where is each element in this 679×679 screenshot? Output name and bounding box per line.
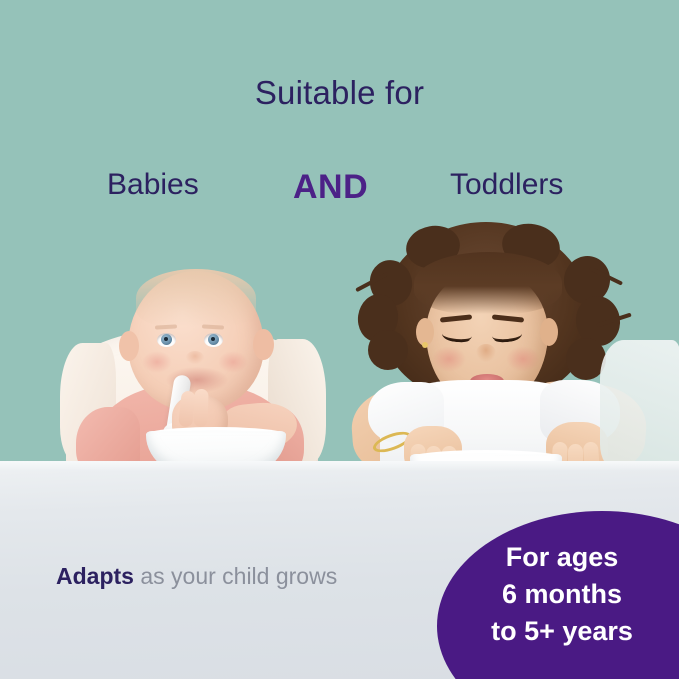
baby-nose bbox=[186, 351, 204, 364]
adapts-caption: Adapts as your child grows bbox=[56, 563, 337, 590]
adapts-caption-light: as your child grows bbox=[134, 563, 337, 589]
age-badge-line-3: to 5+ years bbox=[437, 613, 679, 650]
age-badge-line-2: 6 months bbox=[437, 576, 679, 613]
baby-right-cheek bbox=[218, 351, 248, 373]
baby-finger bbox=[193, 389, 208, 427]
baby-right-eye bbox=[204, 333, 223, 347]
product-feature-image: Suitable for Babies AND Toddlers Adapts … bbox=[0, 0, 679, 679]
audience-row: Babies AND Toddlers bbox=[0, 168, 679, 212]
baby-left-cheek bbox=[142, 351, 172, 373]
toddler-hair-curl bbox=[368, 330, 408, 370]
toddler-earring bbox=[422, 342, 428, 348]
adapts-caption-strong: Adapts bbox=[56, 563, 134, 589]
baby-left-ear bbox=[119, 331, 139, 361]
baby-right-ear bbox=[253, 329, 274, 360]
baby-hair bbox=[136, 269, 256, 327]
audience-label-babies: Babies bbox=[107, 168, 199, 202]
toddler-left-cheek bbox=[432, 346, 466, 372]
background-chair-right bbox=[600, 340, 679, 470]
page-title: Suitable for bbox=[0, 74, 679, 112]
age-badge-line-1: For ages bbox=[437, 539, 679, 576]
toddler-nose bbox=[476, 344, 496, 362]
audience-connector: AND bbox=[293, 168, 368, 207]
toddler-fringe bbox=[414, 252, 562, 314]
toddler-right-ear bbox=[540, 318, 558, 346]
baby-photo-group bbox=[60, 255, 330, 470]
baby-left-eye bbox=[157, 333, 176, 347]
age-range-badge-text: For ages 6 months to 5+ years bbox=[437, 539, 679, 650]
audience-label-toddlers: Toddlers bbox=[450, 168, 563, 202]
toddler-right-cheek bbox=[506, 346, 540, 372]
